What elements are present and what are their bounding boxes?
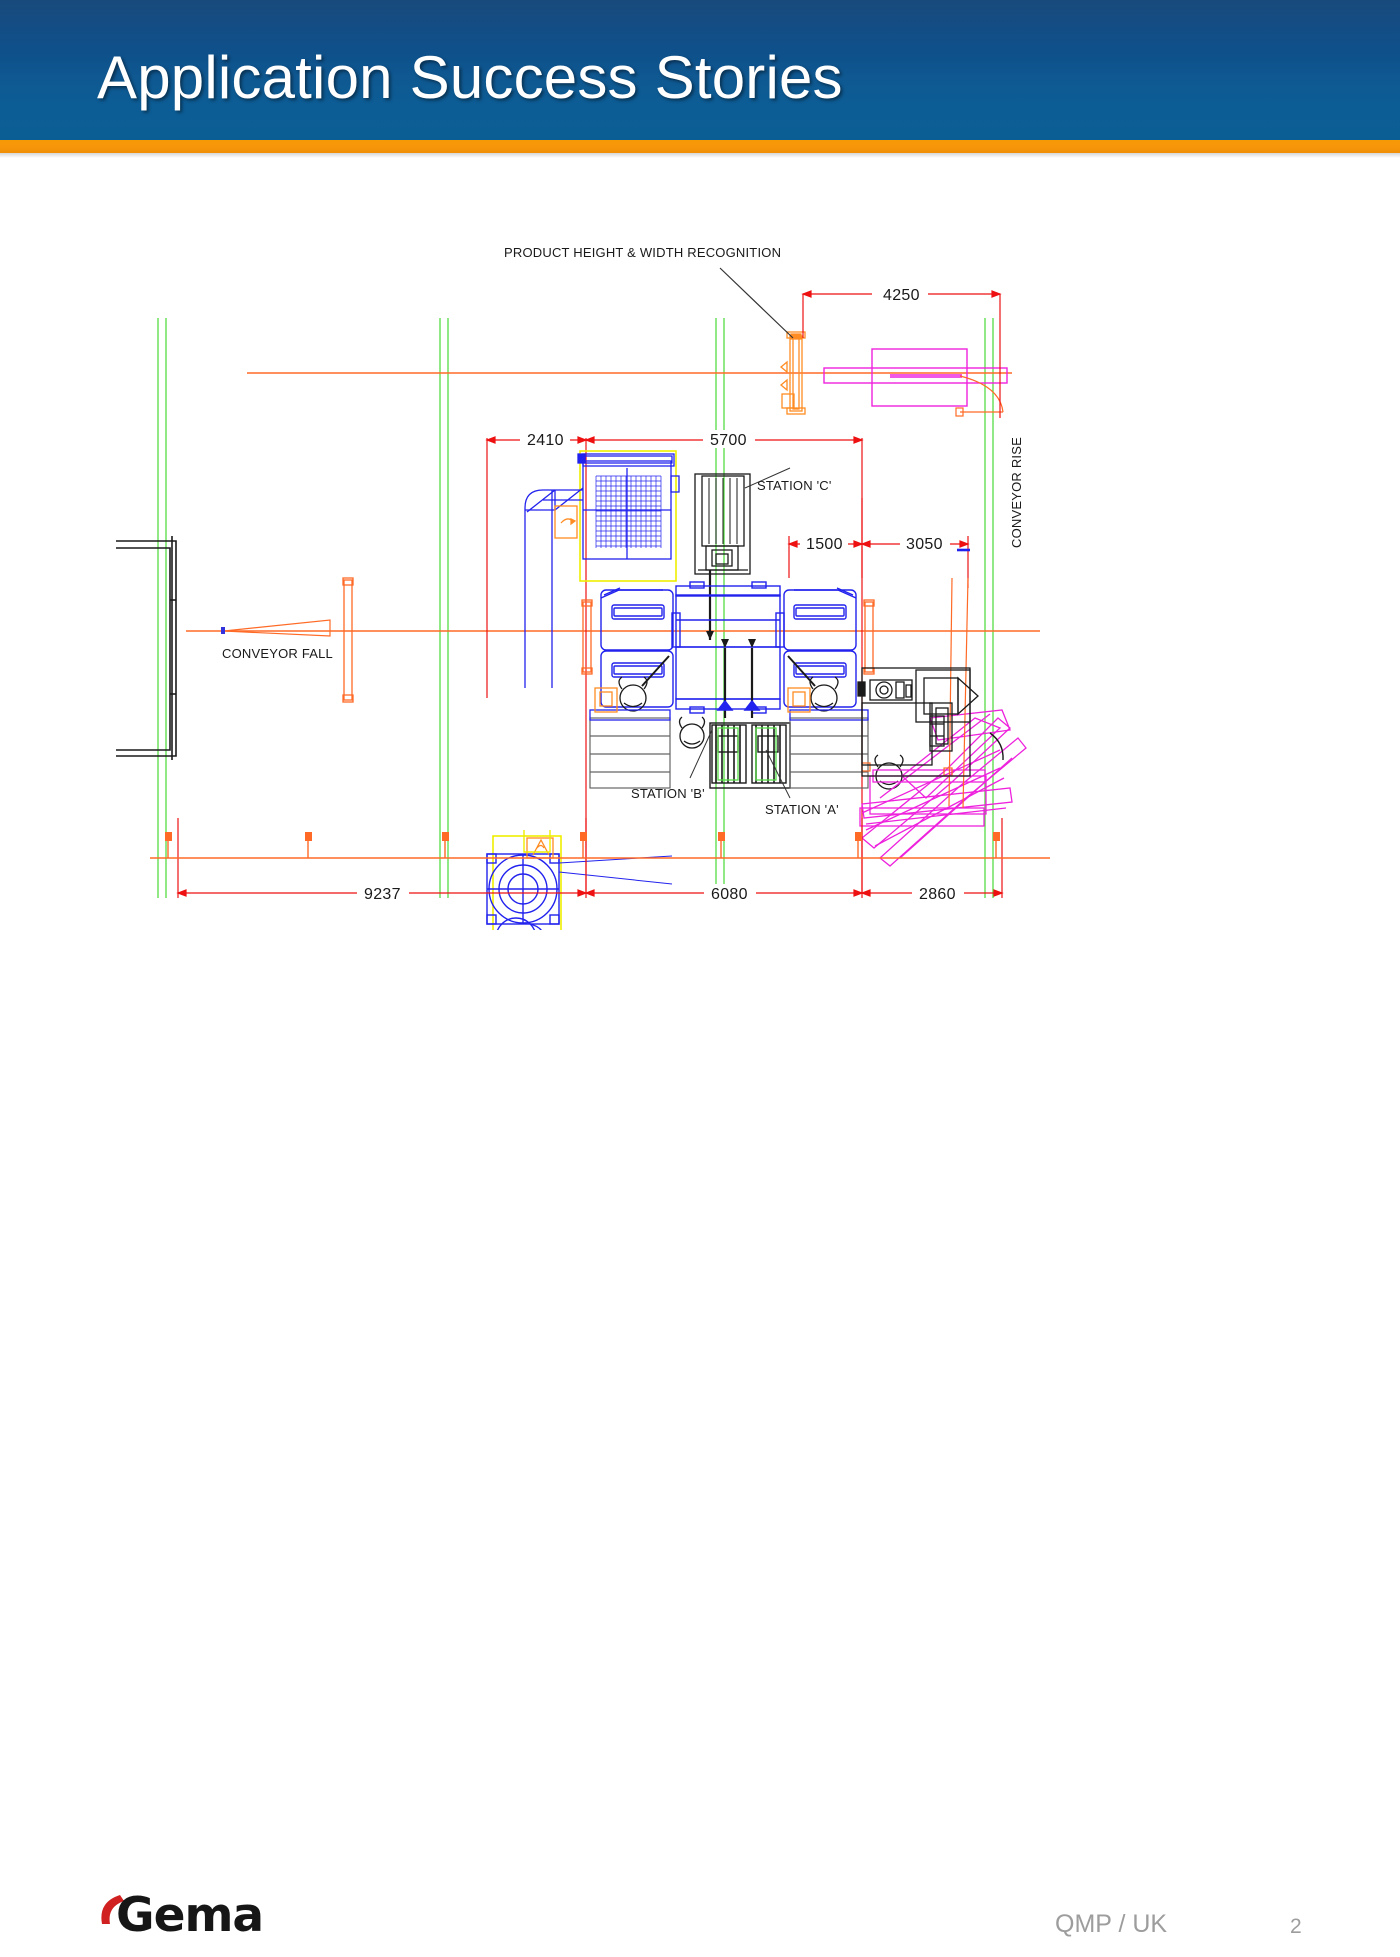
dimension-value-2410: 2410 <box>527 432 564 449</box>
slide-footer: Gema QMP / UK 2 <box>0 930 1400 1050</box>
conveyor-fall-wedge <box>224 620 330 636</box>
label-conveyor-rise: CONVEYOR RISE <box>1009 437 1024 548</box>
label-product-recognition: PRODUCT HEIGHT & WIDTH RECOGNITION <box>504 245 781 260</box>
control-panel <box>858 668 978 776</box>
conveyor-fall-marker <box>221 627 225 634</box>
station-b-leader <box>690 730 712 778</box>
dimension-value-6080: 6080 <box>711 886 748 903</box>
label-station-a: STATION 'A' <box>765 802 839 817</box>
gema-logo: Gema <box>88 1890 318 1952</box>
floor-tick-heads <box>165 832 1000 841</box>
dimension-value-5700: 5700 <box>710 432 747 449</box>
entry-booth-transfer-curve <box>956 376 1003 416</box>
dimension-2410-5700 <box>487 437 862 893</box>
entry-booth-magenta <box>824 349 1007 406</box>
dimension-value-4250: 4250 <box>883 287 920 304</box>
operator-figure-bottom <box>680 717 705 748</box>
footer-note: QMP / UK <box>1055 1910 1167 1939</box>
station-ab-block <box>710 723 790 788</box>
filter-module-blue <box>578 454 679 559</box>
dimension-value-1500: 1500 <box>806 536 843 553</box>
operator-figure-right <box>810 677 838 711</box>
product-recognition-leader <box>720 268 793 338</box>
cyclone-link-lines <box>559 856 672 884</box>
cyclone-inlet-orange <box>527 838 553 858</box>
dimension-4250 <box>803 291 1000 418</box>
conveyor-curve-orange <box>862 578 968 808</box>
conveyor-post-left <box>343 578 353 702</box>
dimension-value-3050: 3050 <box>906 536 943 553</box>
station-c-arrow <box>706 631 714 640</box>
cad-drawing: PRODUCT HEIGHT & WIDTH RECOGNITION 4250 <box>0 158 1400 930</box>
station-c-cabinet <box>695 474 750 574</box>
page-title: Application Success Stories <box>97 48 843 108</box>
dimension-value-9237: 9237 <box>364 886 401 903</box>
dimension-value-2860: 2860 <box>919 886 956 903</box>
building-wall-left <box>116 536 176 760</box>
extraction-duct <box>525 488 583 688</box>
cyclone-unit-blue <box>487 854 559 930</box>
gema-logo-text: Gema <box>116 1892 263 1939</box>
reciprocator-arms <box>642 656 815 686</box>
operator-figure-left <box>619 677 647 711</box>
page-number: 2 <box>1290 1915 1302 1939</box>
label-station-c: STATION 'C' <box>757 478 832 493</box>
slide-header: Application Success Stories <box>0 0 1400 140</box>
main-booth-blue <box>601 582 856 713</box>
header-accent-bar <box>0 140 1400 153</box>
label-conveyor-fall: CONVEYOR FALL <box>222 646 333 661</box>
duct-damper <box>555 506 577 538</box>
cad-drawing-svg: PRODUCT HEIGHT & WIDTH RECOGNITION 4250 <box>0 158 1400 930</box>
slide: Application Success Stories <box>0 0 1400 1050</box>
